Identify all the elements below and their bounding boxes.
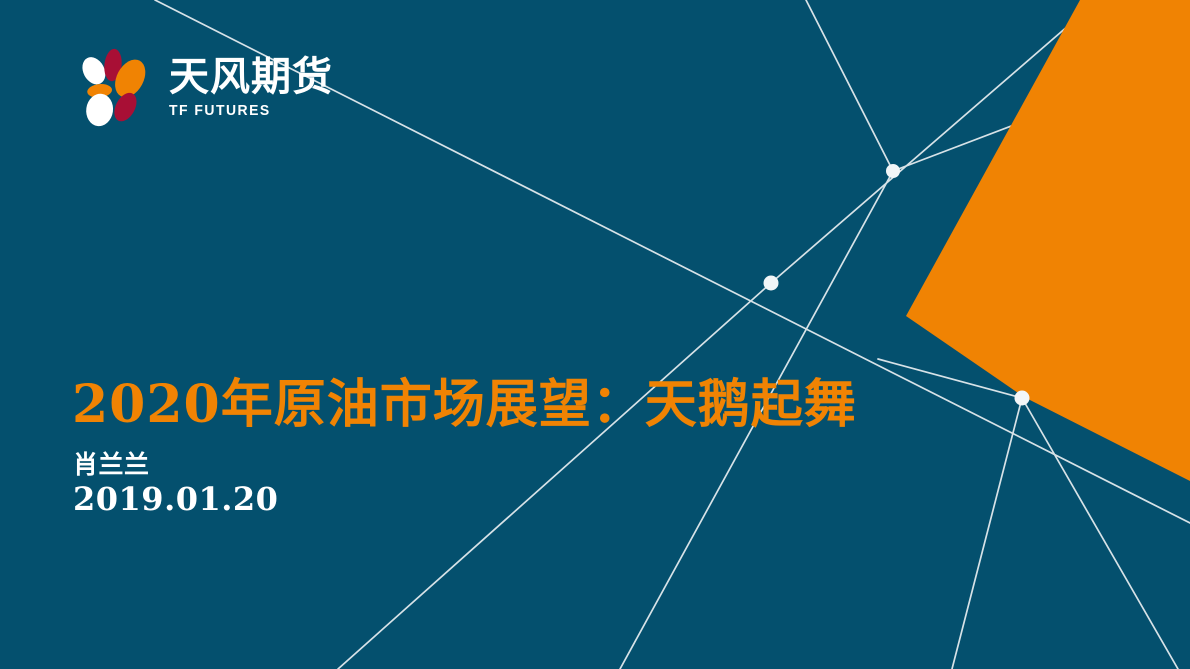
slide-title: 2020年原油市场展望：天鹅起舞 xyxy=(72,374,857,436)
logo-name-cn: 天风期货 xyxy=(169,57,333,98)
company-logo: 天风期货 TF FUTURES xyxy=(70,44,333,130)
deco-node xyxy=(764,276,779,291)
author-name: 肖兰兰 xyxy=(73,450,278,479)
deco-node xyxy=(1015,391,1030,406)
logo-wordmark: 天风期货 TF FUTURES xyxy=(169,55,333,120)
deco-node xyxy=(886,164,900,178)
presentation-date: 2019.01.20 xyxy=(73,481,278,518)
logo-name-en: TF FUTURES xyxy=(169,102,322,119)
logo-petal xyxy=(110,89,141,125)
tf-futures-petal-logo-icon xyxy=(70,44,156,130)
byline: 肖兰兰 2019.01.20 xyxy=(73,450,278,518)
logo-petal xyxy=(84,92,115,128)
title-slide: 天风期货 TF FUTURES 2020年原油市场展望：天鹅起舞 肖兰兰 201… xyxy=(0,0,1190,669)
